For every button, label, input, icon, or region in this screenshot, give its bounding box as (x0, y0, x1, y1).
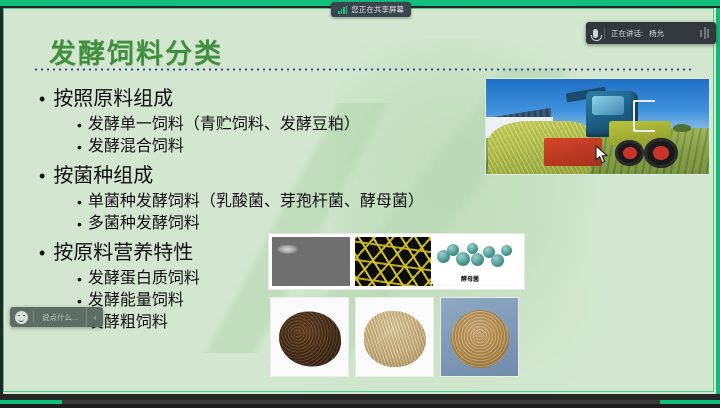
photo-rail (633, 100, 655, 133)
bullet-subitem-text: 单菌种发酵饲料（乳酸菌、芽孢杆菌、酵母菌） (88, 191, 424, 213)
bullet-group-2: • 按菌种组成 • 单菌种发酵饲料（乳酸菌、芽孢杆菌、酵母菌） • 多菌种发酵饲… (39, 163, 469, 235)
presentation-slide: 发酵饲料分类 • 按照原料组成 • 发酵单一饲料（青贮饲料、发酵豆粕） • 发酵… (3, 8, 716, 394)
bullet-subitem-text: 发酵单一饲料（青贮饲料、发酵豆粕） (88, 114, 360, 136)
yeast-cell (501, 245, 512, 256)
subbullet-dot-icon: • (77, 191, 82, 213)
screen-share-view: 发酵饲料分类 • 按照原料组成 • 发酵单一饲料（青贮饲料、发酵豆粕） • 发酵… (0, 0, 720, 408)
speaker-name: 杨允 (649, 28, 664, 39)
progress-fill (0, 400, 62, 404)
bullet-heading: • 按照原料组成 (39, 86, 469, 113)
signal-bars-icon (338, 6, 347, 14)
microphone-icon (593, 29, 598, 38)
photo-blade (544, 138, 602, 167)
slide-title: 发酵饲料分类 (49, 32, 223, 71)
audio-waveform-icon (700, 27, 709, 39)
title-underline (33, 68, 693, 71)
yeast-label: 酵母菌 (461, 274, 479, 283)
bullet-subitem: • 多菌种发酵饲料 (77, 213, 469, 235)
subbullet-dot-icon: • (77, 114, 82, 136)
subbullet-dot-icon: • (77, 136, 82, 158)
chat-input[interactable]: 说点什么... (34, 312, 86, 323)
feed-heap (451, 310, 509, 368)
bullet-heading-text: 按照原料组成 (53, 86, 173, 113)
bullet-heading-text: 按原料营养特性 (53, 240, 193, 267)
speaker-label: 正在讲话: (611, 28, 643, 39)
yeast-cells-photo: 酵母菌 (431, 236, 521, 284)
photo-tree (673, 124, 691, 133)
yellow-filament-microbe-photo (355, 237, 433, 286)
subbullet-dot-icon: • (77, 268, 82, 290)
smiley-face-icon[interactable] (15, 311, 28, 324)
bullet-subitem: • 发酵混合饲料 (77, 136, 469, 158)
active-speaker-indicator[interactable]: 正在讲话: 杨允 (586, 22, 716, 44)
feed-heap (364, 311, 426, 367)
bullet-subitem-text: 发酵混合饲料 (88, 136, 184, 158)
yeast-cell (456, 252, 470, 266)
subbullet-dot-icon: • (77, 213, 82, 235)
golden-fermented-feed-photo (440, 297, 519, 377)
divider (604, 28, 605, 39)
chevron-left-icon[interactable]: ‹ (86, 307, 103, 327)
playback-progress-bar[interactable] (0, 400, 720, 404)
bullet-heading: • 按菌种组成 (39, 163, 469, 190)
bullet-heading-text: 按菌种组成 (53, 163, 153, 190)
progress-fill-right (660, 400, 720, 404)
right-edge-accent (716, 8, 720, 394)
bullet-dot-icon: • (39, 163, 45, 190)
feed-heap (279, 311, 341, 366)
bullet-dot-icon: • (39, 240, 45, 267)
bullet-group-1: • 按照原料组成 • 发酵单一饲料（青贮饲料、发酵豆粕） • 发酵混合饲料 (39, 86, 469, 158)
sharing-banner-text: 您正在共享屏幕 (351, 4, 404, 15)
bottom-edge (0, 404, 720, 408)
bacteria-sem-photo (272, 237, 350, 286)
dark-fermented-feed-photo (270, 297, 349, 377)
bullet-subitem-text: 发酵蛋白质饲料 (88, 268, 200, 290)
bullet-subitem-text: 多菌种发酵饲料 (88, 213, 200, 235)
screen-sharing-banner[interactable]: 您正在共享屏幕 (331, 2, 411, 17)
bullet-dot-icon: • (39, 86, 45, 113)
chat-input-widget[interactable]: 说点什么... ‹ (10, 307, 103, 327)
yeast-cell (491, 254, 504, 267)
yeast-cell (471, 253, 484, 266)
bullet-subitem: • 发酵单一饲料（青贮饲料、发酵豆粕） (77, 114, 469, 136)
photo-wheel (644, 138, 677, 168)
bullet-subitem: • 单菌种发酵饲料（乳酸菌、芽孢杆菌、酵母菌） (77, 191, 469, 213)
light-fermented-feed-photo (355, 297, 434, 377)
